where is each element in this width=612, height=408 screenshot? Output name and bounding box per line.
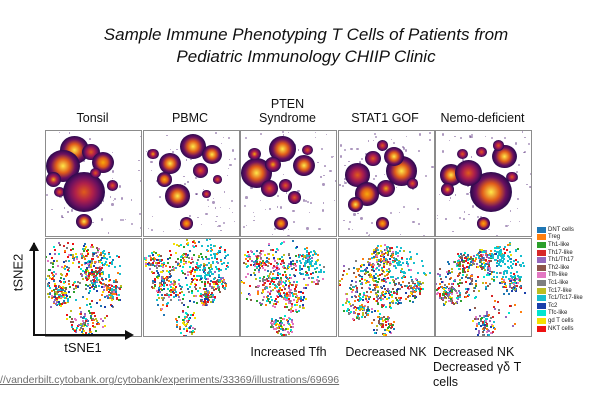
cluster-point — [104, 306, 106, 308]
legend-item-gd-t-cells[interactable]: gd T cells — [537, 317, 583, 325]
cluster-point — [300, 273, 302, 275]
cluster-point — [219, 247, 221, 249]
density-speckle — [356, 148, 358, 150]
cluster-point — [392, 302, 394, 304]
cluster-point — [186, 330, 188, 332]
column-header-4: STAT1 GOF — [330, 112, 441, 126]
density-speckle — [131, 223, 134, 226]
density-speckle — [223, 137, 224, 138]
cluster-point — [156, 267, 158, 269]
cluster-point — [71, 324, 73, 326]
cluster-point — [403, 275, 405, 277]
cluster-point — [290, 329, 292, 331]
cluster-point — [354, 306, 356, 308]
density-speckle — [357, 213, 359, 215]
cluster-point — [180, 332, 182, 334]
cluster-point — [349, 303, 351, 305]
cluster-point — [274, 306, 276, 308]
cluster-point — [401, 257, 403, 259]
cluster-point — [348, 268, 350, 270]
cluster-point — [155, 262, 157, 264]
cluster-point — [256, 266, 258, 268]
cluster-point — [310, 251, 312, 253]
cluster-point — [280, 325, 282, 327]
density-speckle — [508, 225, 509, 226]
density-speckle — [208, 206, 209, 207]
density-speckle — [229, 164, 231, 166]
cluster-point — [422, 282, 424, 284]
cluster-point — [347, 308, 349, 310]
cluster-point — [489, 283, 491, 285]
cluster-point — [211, 257, 213, 259]
cluster-point — [204, 291, 206, 293]
density-speckle — [368, 140, 369, 141]
cluster-point — [346, 293, 348, 295]
cluster-point — [284, 315, 286, 317]
cluster-point — [348, 301, 350, 303]
cluster-point — [253, 272, 255, 274]
cluster-point — [410, 258, 412, 260]
cluster-point — [188, 291, 190, 293]
density-speckle — [317, 162, 319, 164]
cluster-point — [72, 248, 74, 250]
column-header-3: PTENSyndrome — [232, 98, 343, 125]
density-panel-1[interactable] — [45, 130, 142, 237]
cluster-point — [315, 271, 317, 273]
cluster-point — [288, 332, 290, 334]
cluster-point — [81, 274, 83, 276]
density-speckle — [423, 235, 425, 237]
cluster-point — [211, 292, 213, 294]
cluster-point — [83, 322, 85, 324]
cluster-point — [167, 262, 169, 264]
density-speckle — [283, 174, 284, 175]
density-speckle — [221, 143, 222, 144]
legend-item-tc2[interactable]: Tc2 — [537, 302, 583, 310]
cluster-point — [517, 248, 519, 250]
cluster-point — [490, 260, 492, 262]
cluster-point — [109, 294, 111, 296]
cluster-panel-2[interactable] — [143, 238, 240, 337]
cluster-point — [168, 296, 170, 298]
cluster-point — [267, 280, 269, 282]
density-speckle — [460, 137, 462, 139]
cluster-point — [65, 275, 67, 277]
cytobank-experiment-link[interactable]: //vanderbilt.cytobank.org/cytobank/exper… — [0, 374, 339, 387]
cluster-point — [243, 282, 245, 284]
cluster-point — [153, 287, 155, 289]
cluster-point — [267, 295, 269, 297]
density-speckle — [244, 205, 246, 207]
cluster-point — [207, 301, 209, 303]
legend-item-tc17-like[interactable]: Tc17-like — [537, 287, 583, 295]
legend-item-tfc-like[interactable]: Tfc-like — [537, 310, 583, 318]
cluster-point — [458, 285, 460, 287]
legend-item-th2-like[interactable]: Th2-like — [537, 264, 583, 272]
cluster-point — [387, 288, 389, 290]
cluster-point — [260, 304, 262, 306]
cluster-point — [504, 263, 506, 265]
cluster-point — [514, 323, 516, 325]
cluster-point — [82, 248, 84, 250]
column-header-line-1: STAT1 GOF — [330, 112, 441, 126]
cluster-point — [399, 250, 401, 252]
cluster-point — [285, 303, 287, 305]
cluster-point — [216, 280, 218, 282]
cluster-point — [486, 328, 488, 330]
cluster-point — [269, 293, 271, 295]
cluster-point — [371, 311, 373, 313]
cluster-point — [386, 263, 388, 265]
cluster-point — [503, 273, 505, 275]
cluster-point — [211, 273, 213, 275]
density-speckle — [519, 221, 520, 222]
cluster-point — [296, 300, 298, 302]
cluster-point — [183, 328, 185, 330]
cluster-point — [292, 310, 294, 312]
cluster-point — [145, 257, 147, 259]
cluster-point — [415, 278, 417, 280]
density-speckle — [114, 198, 117, 201]
cluster-point — [381, 323, 383, 325]
x-axis-label: tSNE1 — [40, 340, 126, 355]
cluster-point — [437, 292, 439, 294]
cluster-point — [463, 260, 465, 262]
cluster-point — [201, 245, 203, 247]
cluster-point — [116, 281, 118, 283]
density-speckle — [212, 201, 214, 203]
cluster-point — [359, 293, 361, 295]
cluster-point — [458, 290, 460, 292]
cluster-point — [381, 273, 383, 275]
density-speckle — [227, 175, 228, 176]
cluster-point — [54, 253, 56, 255]
cluster-point — [98, 279, 100, 281]
cluster-point — [474, 297, 476, 299]
cluster-point — [106, 289, 108, 291]
cluster-point — [176, 326, 178, 328]
cluster-point — [503, 271, 505, 273]
cluster-point — [180, 244, 182, 246]
density-speckle — [138, 170, 139, 171]
cluster-point — [100, 252, 102, 254]
cluster-point — [376, 329, 378, 331]
cluster-panel-3[interactable] — [240, 238, 337, 337]
cluster-point — [188, 238, 190, 239]
cluster-point — [103, 257, 105, 259]
x-axis-arrow — [33, 334, 126, 336]
cluster-point — [159, 282, 161, 284]
cluster-point — [516, 285, 518, 287]
cluster-point — [409, 295, 411, 297]
cluster-point — [365, 272, 367, 274]
cluster-point — [502, 256, 504, 258]
cluster-point — [201, 281, 203, 283]
density-panel-3[interactable] — [240, 130, 337, 237]
cluster-point — [392, 276, 394, 278]
cluster-point — [376, 259, 378, 261]
cluster-point — [400, 264, 402, 266]
cluster-point — [87, 285, 89, 287]
cluster-point — [162, 304, 164, 306]
cluster-point — [240, 292, 242, 294]
cluster-point — [477, 266, 479, 268]
density-blob-4 — [265, 157, 281, 172]
cluster-point — [191, 281, 193, 283]
cluster-point — [109, 297, 111, 299]
cluster-point — [421, 260, 423, 262]
cluster-point — [247, 273, 249, 275]
cluster-point — [292, 295, 294, 297]
density-speckle — [425, 175, 427, 177]
density-panel-2[interactable] — [143, 130, 240, 237]
density-speckle — [283, 230, 284, 231]
density-speckle — [307, 201, 309, 203]
cluster-point — [373, 329, 375, 331]
cluster-point — [489, 273, 491, 275]
cluster-point — [70, 310, 72, 312]
cluster-point — [317, 276, 319, 278]
cluster-point — [154, 285, 156, 287]
cluster-point — [166, 270, 168, 272]
density-speckle — [159, 196, 161, 198]
cluster-point — [91, 312, 93, 314]
legend-item-th1-th17[interactable]: Th1/Th17 — [537, 256, 583, 264]
cluster-point — [112, 296, 114, 298]
cluster-point — [443, 294, 445, 296]
cluster-point — [459, 282, 461, 284]
cluster-point — [55, 303, 57, 305]
cluster-point — [223, 262, 225, 264]
cluster-point — [396, 293, 398, 295]
cluster-point — [285, 334, 287, 336]
cluster-point — [386, 274, 388, 276]
density-panel-4[interactable] — [338, 130, 435, 237]
cluster-point — [418, 284, 420, 286]
cluster-point — [63, 261, 65, 263]
legend-swatch — [537, 272, 546, 278]
cluster-point — [293, 299, 295, 301]
cluster-point — [307, 257, 309, 259]
density-blob-8 — [288, 191, 301, 204]
density-speckle — [215, 132, 217, 134]
legend-swatch — [537, 326, 546, 332]
tsne-figure: Sample Immune Phenotyping T Cells of Pat… — [0, 0, 612, 408]
legend-item-th1-like[interactable]: Th1-like — [537, 241, 583, 249]
cluster-point — [502, 261, 504, 263]
legend-label: Tfc-like — [548, 310, 567, 316]
density-speckle — [112, 170, 114, 172]
cluster-point — [414, 295, 416, 297]
cluster-point — [249, 285, 251, 287]
cluster-point — [108, 287, 110, 289]
caption-line-1: Increased Tfh — [234, 345, 343, 360]
cluster-point — [473, 290, 475, 292]
cluster-point — [492, 316, 494, 318]
cluster-panel-1[interactable] — [45, 238, 142, 337]
cluster-point — [513, 283, 515, 285]
cluster-point — [80, 311, 82, 313]
cluster-point — [451, 290, 453, 292]
cluster-point — [175, 252, 177, 254]
density-speckle — [306, 227, 308, 229]
density-speckle — [119, 185, 121, 187]
cluster-point — [92, 322, 94, 324]
density-speckle — [403, 206, 405, 208]
cluster-point — [473, 255, 475, 257]
density-speckle — [442, 150, 444, 152]
legend-swatch — [537, 234, 546, 240]
density-speckle — [310, 202, 312, 204]
density-blob-4 — [157, 172, 173, 187]
legend-item-dnt-cells[interactable]: DNT cells — [537, 226, 583, 234]
cluster-point — [503, 248, 505, 250]
cluster-point — [522, 262, 524, 264]
cluster-point — [396, 289, 398, 291]
legend-item-tc1-tc17-like[interactable]: Tc1/Tc17-like — [537, 294, 583, 302]
cluster-point — [257, 291, 259, 293]
cluster-point — [461, 282, 463, 284]
cluster-point — [509, 251, 511, 253]
cluster-point — [459, 265, 461, 267]
density-speckle — [254, 216, 255, 217]
cluster-point — [118, 299, 120, 301]
density-speckle — [92, 222, 94, 224]
cluster-point — [355, 281, 357, 283]
cluster-point — [213, 283, 215, 285]
cluster-point — [284, 271, 286, 273]
cluster-point — [310, 273, 312, 275]
legend-item-th17-like[interactable]: Th17-like — [537, 249, 583, 257]
cluster-point — [280, 333, 282, 335]
density-speckle — [431, 166, 433, 168]
cluster-point — [295, 309, 297, 311]
legend-item-tfh-like[interactable]: Tfh-like — [537, 272, 583, 280]
density-speckle — [515, 142, 517, 144]
cluster-point — [460, 253, 462, 255]
cluster-point — [478, 290, 480, 292]
cluster-point — [52, 263, 54, 265]
cluster-point — [480, 265, 482, 267]
cluster-point — [377, 316, 379, 318]
density-speckle — [353, 213, 355, 215]
density-speckle — [442, 133, 444, 135]
density-speckle — [138, 160, 140, 162]
cluster-point — [51, 290, 53, 292]
cluster-point — [270, 290, 272, 292]
legend-item-treg[interactable]: Treg — [537, 234, 583, 242]
density-speckle — [348, 161, 349, 162]
cluster-point — [495, 253, 497, 255]
density-speckle — [277, 195, 279, 197]
cluster-point — [470, 257, 472, 259]
cluster-point — [289, 257, 291, 259]
cluster-point — [262, 299, 264, 301]
cluster-point — [214, 257, 216, 259]
cluster-point — [312, 254, 314, 256]
cluster-point — [366, 291, 368, 293]
cluster-point — [389, 331, 391, 333]
cluster-point — [389, 258, 391, 260]
density-speckle — [530, 173, 532, 175]
cluster-point — [367, 314, 369, 316]
cluster-point — [189, 250, 191, 252]
cluster-point — [513, 273, 515, 275]
cluster-point — [374, 251, 376, 253]
cluster-point — [298, 310, 300, 312]
cluster-point — [262, 260, 264, 262]
density-speckle — [260, 200, 262, 202]
density-blob-8 — [407, 178, 418, 189]
legend-item-tc1-like[interactable]: Tc1-like — [537, 279, 583, 287]
density-panel-5[interactable] — [435, 130, 532, 237]
density-speckle — [321, 148, 323, 150]
cluster-point — [275, 303, 277, 305]
cluster-point — [72, 284, 74, 286]
cluster-point — [346, 300, 348, 302]
cluster-point — [361, 287, 363, 289]
cluster-point — [147, 263, 149, 265]
cluster-point — [383, 334, 385, 336]
cluster-point — [485, 254, 487, 256]
cluster-point — [67, 242, 69, 244]
cluster-point — [342, 304, 344, 306]
cluster-point — [284, 296, 286, 298]
cluster-panel-5[interactable] — [435, 238, 532, 337]
cluster-point — [254, 274, 256, 276]
density-speckle — [101, 218, 103, 220]
cluster-point — [203, 303, 205, 305]
density-blob-9 — [376, 217, 389, 230]
cluster-point — [48, 269, 50, 271]
cluster-point — [288, 285, 290, 287]
cluster-point — [227, 254, 229, 256]
cluster-point — [199, 287, 201, 289]
density-speckle — [292, 210, 294, 212]
cluster-point — [465, 296, 467, 298]
legend-item-nkt-cells[interactable]: NKT cells — [537, 325, 583, 333]
density-speckle — [51, 209, 52, 210]
density-speckle — [89, 138, 91, 140]
cluster-point — [64, 302, 66, 304]
cluster-point — [182, 298, 184, 300]
cluster-point — [154, 279, 156, 281]
cluster-point — [63, 281, 65, 283]
cluster-point — [497, 301, 499, 303]
cluster-point — [314, 268, 316, 270]
cluster-point — [420, 288, 422, 290]
cluster-point — [211, 268, 213, 270]
density-speckle — [368, 235, 370, 237]
cluster-panel-4[interactable] — [338, 238, 435, 337]
cluster-point — [260, 264, 262, 266]
cluster-point — [412, 291, 414, 293]
density-speckle — [125, 219, 126, 220]
cluster-point — [417, 272, 419, 274]
legend-label: Th17-like — [548, 250, 573, 256]
cluster-point — [95, 252, 97, 254]
cluster-point — [210, 301, 212, 303]
cluster-point — [262, 284, 264, 286]
cluster-point — [357, 299, 359, 301]
cluster-point — [259, 252, 261, 254]
cluster-point — [490, 255, 492, 257]
density-blob-6 — [261, 180, 279, 197]
cluster-point — [255, 260, 257, 262]
cluster-point — [393, 328, 395, 330]
cluster-point — [392, 279, 394, 281]
cluster-point — [380, 245, 382, 247]
